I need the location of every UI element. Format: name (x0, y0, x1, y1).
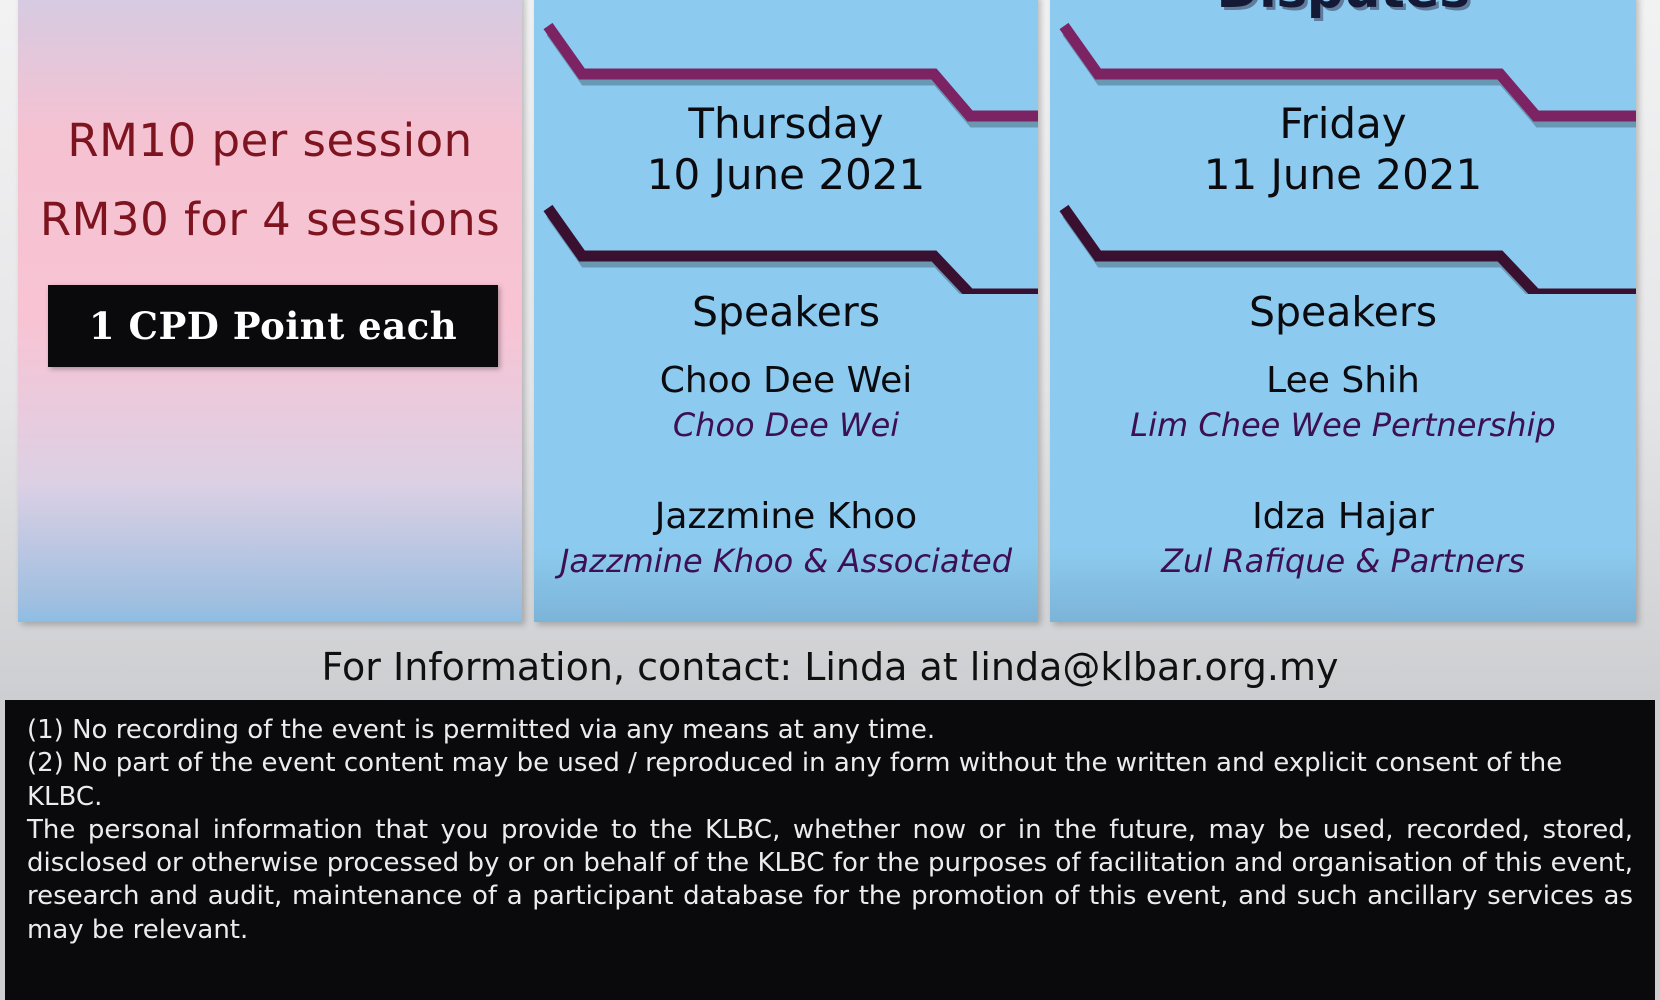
session-column-friday: Disputes Friday 11 June 2021 Speakers Le… (1050, 0, 1636, 622)
contact-text: For Information, contact: Linda at linda… (322, 645, 1339, 689)
speaker-firm: Lim Chee Wee Pertnership (1050, 406, 1636, 444)
day-name: Friday (1279, 99, 1406, 148)
speaker-name: Jazzmine Khoo (534, 496, 1038, 537)
speakers-heading: Speakers (534, 288, 1038, 336)
speaker-name: Choo Dee Wei (534, 360, 1038, 401)
speaker-firm: Zul Rafique & Partners (1050, 542, 1636, 580)
session-column-thursday: Thursday 10 June 2021 Speakers Choo Dee … (534, 0, 1038, 622)
price-bundle: RM30 for 4 sessions (18, 193, 522, 246)
cpd-points-label: 1 CPD Point each (89, 304, 457, 348)
disclaimer-item-1: (1) No recording of the event is permitt… (27, 714, 1633, 747)
session-day: Thursday 10 June 2021 (534, 98, 1038, 200)
disclaimer-item-2: (2) No part of the event content may be … (27, 747, 1633, 814)
speaker-name: Lee Shih (1050, 360, 1636, 401)
cpd-points-badge: 1 CPD Point each (48, 285, 498, 367)
day-date: 11 June 2021 (1204, 150, 1483, 199)
speaker-firm: Choo Dee Wei (534, 406, 1038, 444)
day-date: 10 June 2021 (647, 150, 926, 199)
day-name: Thursday (688, 99, 883, 148)
session-day: Friday 11 June 2021 (1050, 98, 1636, 200)
pricing-panel: RM10 per session RM30 for 4 sessions 1 C… (18, 0, 522, 622)
speaker-firm: Jazzmine Khoo & Associated (534, 542, 1038, 580)
speakers-heading: Speakers (1050, 288, 1636, 336)
contact-line: For Information, contact: Linda at linda… (0, 636, 1660, 698)
disclaimer-block: (1) No recording of the event is permitt… (5, 700, 1655, 1000)
event-poster: RM10 per session RM30 for 4 sessions 1 C… (0, 0, 1660, 1000)
session-topic-title: Disputes (1050, 0, 1636, 20)
speaker-name: Idza Hajar (1050, 496, 1636, 537)
price-per-session: RM10 per session (18, 114, 522, 167)
disclaimer-privacy-notice: The personal information that you provid… (27, 814, 1633, 947)
